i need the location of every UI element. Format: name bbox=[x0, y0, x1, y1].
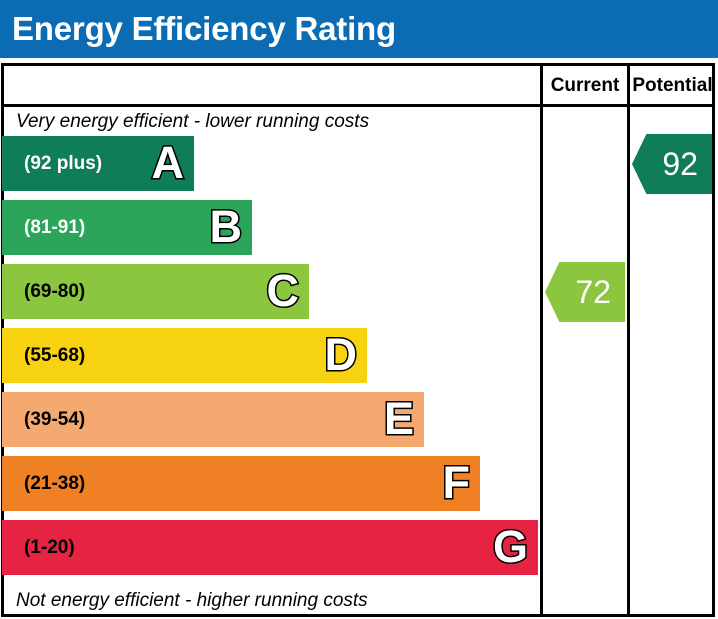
rating-band-d: (55-68)D bbox=[2, 328, 367, 383]
potential-rating-arrow: 92 bbox=[632, 134, 712, 194]
chart-title-bar: Energy Efficiency Rating bbox=[0, 0, 718, 58]
rating-band-c: (69-80)C bbox=[2, 264, 309, 319]
current-column-divider bbox=[540, 63, 543, 617]
rating-band-e: (39-54)E bbox=[2, 392, 424, 447]
band-letter-label: E bbox=[384, 392, 414, 447]
band-letter-label: B bbox=[210, 200, 243, 255]
rating-band-b: (81-91)B bbox=[2, 200, 252, 255]
caption-top: Very energy efficient - lower running co… bbox=[16, 109, 369, 135]
band-range-label: (81-91) bbox=[24, 200, 85, 255]
band-range-label: (69-80) bbox=[24, 264, 85, 319]
page-title: Energy Efficiency Rating bbox=[12, 6, 396, 52]
band-letter-label: D bbox=[325, 328, 358, 383]
band-range-label: (39-54) bbox=[24, 392, 85, 447]
band-range-label: (55-68) bbox=[24, 328, 85, 383]
current-rating-arrow-value: 72 bbox=[575, 262, 611, 322]
band-letter-label: C bbox=[267, 264, 300, 319]
band-letter-label: F bbox=[443, 456, 471, 511]
band-letter-label: G bbox=[493, 520, 528, 575]
rating-band-g: (1-20)G bbox=[2, 520, 538, 575]
caption-bottom: Not energy efficient - higher running co… bbox=[16, 588, 368, 614]
band-range-label: (21-38) bbox=[24, 456, 85, 511]
band-range-label: (92 plus) bbox=[24, 136, 102, 191]
band-letter-label: A bbox=[152, 136, 185, 191]
header-divider bbox=[1, 104, 715, 107]
column-header-current: Current bbox=[543, 72, 627, 100]
rating-band-a: (92 plus)A bbox=[2, 136, 194, 191]
current-rating-arrow: 72 bbox=[545, 262, 625, 322]
potential-rating-arrow-value: 92 bbox=[662, 134, 698, 194]
energy-efficiency-rating-chart: Energy Efficiency Rating Current Potenti… bbox=[0, 0, 718, 619]
rating-band-f: (21-38)F bbox=[2, 456, 480, 511]
potential-column-divider bbox=[627, 63, 630, 617]
band-range-label: (1-20) bbox=[24, 520, 75, 575]
column-header-potential: Potential bbox=[630, 72, 715, 100]
